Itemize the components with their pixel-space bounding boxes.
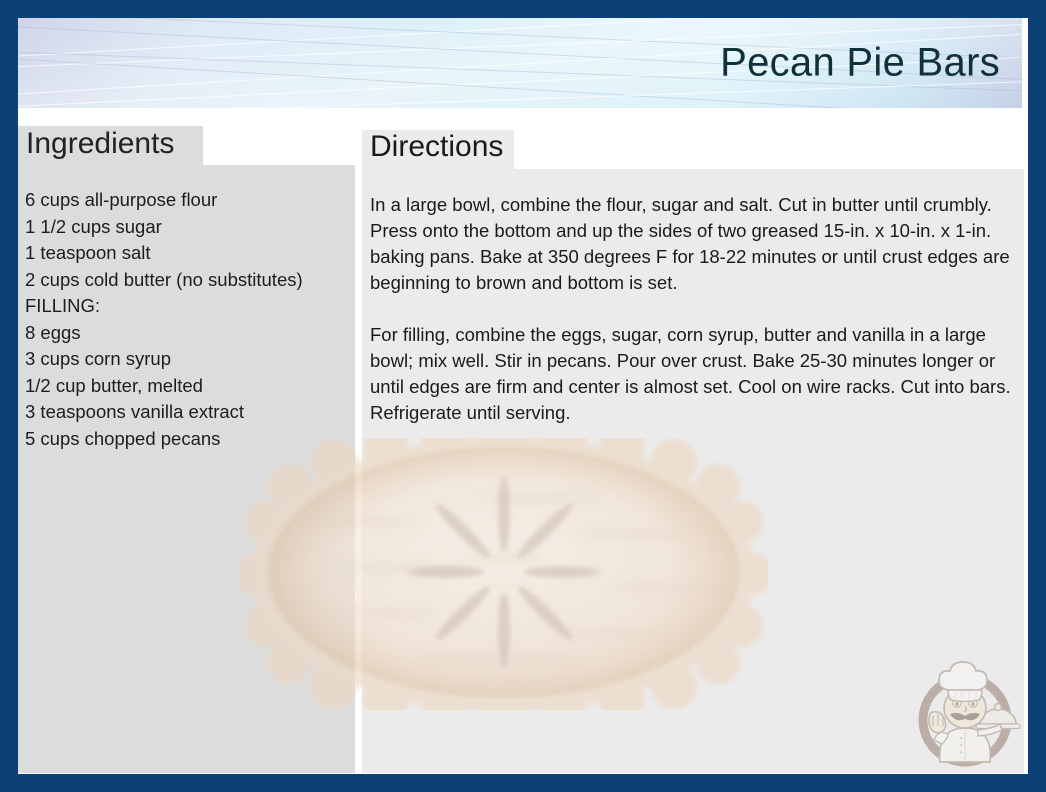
- list-item: 8 eggs: [25, 320, 355, 347]
- directions-heading: Directions: [370, 130, 503, 164]
- ingredients-heading: Ingredients: [26, 127, 174, 161]
- page-title: Pecan Pie Bars: [720, 41, 1000, 86]
- directions-paragraph: For filling, combine the eggs, sugar, co…: [370, 322, 1020, 426]
- list-item: 6 cups all-purpose flour: [25, 187, 355, 214]
- list-item: 3 teaspoons vanilla extract: [25, 399, 355, 426]
- list-item: 5 cups chopped pecans: [25, 426, 355, 453]
- ingredients-list: 6 cups all-purpose flour 1 1/2 cups suga…: [25, 187, 355, 452]
- list-item: 1 1/2 cups sugar: [25, 214, 355, 241]
- list-item: 2 cups cold butter (no substitutes): [25, 267, 355, 294]
- list-item: FILLING:: [25, 293, 355, 320]
- list-item: 3 cups corn syrup: [25, 346, 355, 373]
- directions-paragraph: In a large bowl, combine the flour, suga…: [370, 192, 1020, 296]
- recipe-card: Pecan Pie Bars Ingredients 6 cups all-pu…: [0, 0, 1046, 792]
- list-item: 1 teaspoon salt: [25, 240, 355, 267]
- directions-body: In a large bowl, combine the flour, suga…: [370, 192, 1020, 452]
- header-banner: Pecan Pie Bars: [18, 18, 1022, 108]
- list-item: 1/2 cup butter, melted: [25, 373, 355, 400]
